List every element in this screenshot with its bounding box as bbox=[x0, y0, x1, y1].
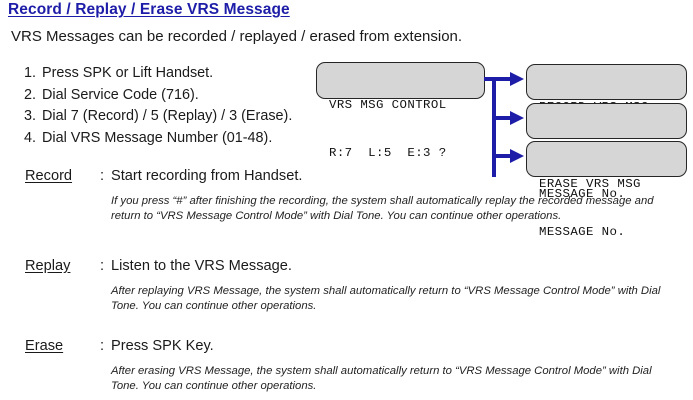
definition-note: If you press “#” after finishing the rec… bbox=[111, 194, 681, 225]
definition-term: Record bbox=[25, 168, 72, 184]
branch-arrow-icon bbox=[484, 58, 530, 180]
lcd-line-1: ERASE VRS MSG bbox=[539, 176, 686, 192]
definition-description: Listen to the VRS Message. bbox=[111, 258, 292, 274]
step-number: 1. bbox=[16, 63, 42, 85]
definition-colon: : bbox=[100, 338, 104, 354]
definition-colon: : bbox=[100, 258, 104, 274]
definition-note: After replaying VRS Message, the system … bbox=[111, 284, 681, 315]
definition-term: Replay bbox=[25, 258, 70, 274]
intro-text: VRS Messages can be recorded / replayed … bbox=[11, 28, 462, 45]
definition-description: Press SPK Key. bbox=[111, 338, 214, 354]
step-label: Press SPK or Lift Handset. bbox=[42, 63, 213, 85]
lcd-display-vrs-msg-control: VRS MSG CONTROL R:7 L:5 E:3 ? bbox=[316, 62, 485, 99]
definition-description: Start recording from Handset. bbox=[111, 168, 302, 184]
step-label: Dial Service Code (716). bbox=[42, 85, 199, 107]
definition-term: Erase bbox=[25, 338, 63, 354]
lcd-display-erase-vrs-msg: ERASE VRS MSG MESSAGE No. bbox=[526, 141, 687, 177]
lcd-line-2: MESSAGE No. bbox=[539, 224, 686, 240]
step-item: 1. Press SPK or Lift Handset. bbox=[16, 63, 292, 85]
definition-note: After erasing VRS Message, the system sh… bbox=[111, 364, 681, 395]
step-item: 3. Dial 7 (Record) / 5 (Replay) / 3 (Era… bbox=[16, 106, 292, 128]
procedure-steps: 1. Press SPK or Lift Handset. 2. Dial Se… bbox=[16, 63, 292, 149]
lcd-line-1: VRS MSG CONTROL bbox=[329, 97, 484, 113]
lcd-display-record-vrs-msg: RECORD VRS MSG MESSAGE No. bbox=[526, 64, 687, 100]
step-label: Dial VRS Message Number (01-48). bbox=[42, 128, 272, 150]
step-item: 2. Dial Service Code (716). bbox=[16, 85, 292, 107]
definition-colon: : bbox=[100, 168, 104, 184]
step-label: Dial 7 (Record) / 5 (Replay) / 3 (Erase)… bbox=[42, 106, 292, 128]
page-title: Record / Replay / Erase VRS Message bbox=[8, 1, 290, 19]
lcd-line-2: R:7 L:5 E:3 ? bbox=[329, 145, 484, 161]
step-number: 2. bbox=[16, 85, 42, 107]
lcd-display-play-vrs-msg: PLAY VRS MSG MESSAGE No. bbox=[526, 103, 687, 139]
step-number: 4. bbox=[16, 128, 42, 150]
step-item: 4. Dial VRS Message Number (01-48). bbox=[16, 128, 292, 150]
step-number: 3. bbox=[16, 106, 42, 128]
